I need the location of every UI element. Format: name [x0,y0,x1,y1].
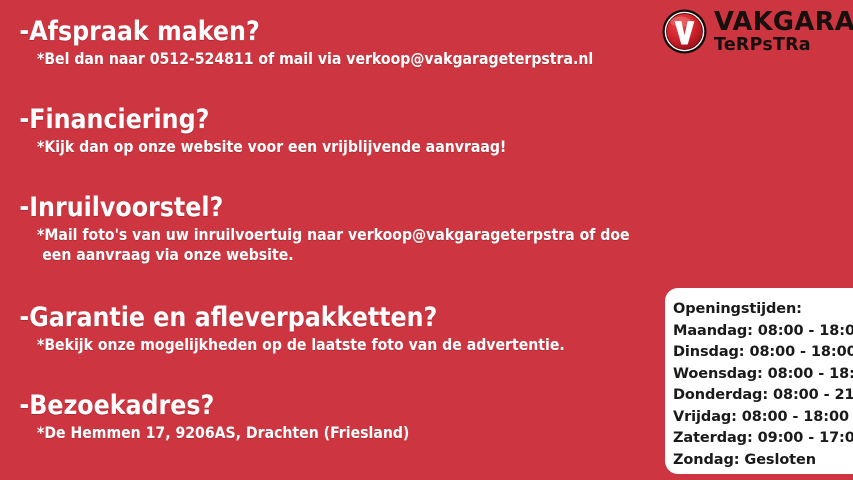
faq-heading: -Inruilvoorstel? [0,193,630,223]
opening-hours-row: Vrijdag: 08:00 - 18:00 [673,407,853,429]
opening-hours-card: Openingstijden: Maandag: 08:00 - 18:00 D… [665,288,853,474]
faq-heading: -Bezoekadres? [0,391,409,421]
logo-wordmark: VAKGARAGE TERPSTRA [714,8,853,55]
opening-hours-row: Donderdag: 08:00 - 21:00 [673,385,853,407]
faq-section-afspraak: -Afspraak maken? *Bel dan naar 0512-5248… [0,17,674,69]
opening-hours-row: Woensdag: 08:00 - 18:00 [673,364,853,386]
logo-brand-name: VAKGARAGE [714,9,853,35]
opening-hours-title: Openingstijden: [673,299,853,321]
faq-section-bezoekadres: -Bezoekadres? *De Hemmen 17, 9206AS, Dra… [0,391,465,443]
opening-hours-row: Maandag: 08:00 - 18:00 [673,321,853,343]
opening-hours-row: Zaterdag: 09:00 - 17:00 [673,428,853,450]
faq-detail-line: een aanvraag via onze website. [0,245,630,265]
faq-detail-line: *Mail foto's van uw inruilvoertuig naar … [0,223,630,245]
vakgarage-logo: VAKGARAGE TERPSTRA [662,8,853,55]
faq-heading: -Afspraak maken? [0,17,593,47]
faq-heading: -Garantie en afleverpakketten? [0,303,565,333]
faq-detail-line: *Bel dan naar 0512-524811 of mail via ve… [0,47,593,69]
vakgarage-v-shield-icon [662,9,707,54]
faq-section-garantie: -Garantie en afleverpakketten? *Bekijk o… [0,303,642,355]
logo-dealer-name: TERPSTRA [714,37,853,55]
faq-detail-line: *De Hemmen 17, 9206AS, Drachten (Friesla… [0,421,409,443]
opening-hours-row: Dinsdag: 08:00 - 18:00 [673,342,853,364]
faq-detail-line: *Kijk dan op onze website voor een vrijb… [0,135,506,157]
advertisement-banner: -Afspraak maken? *Bel dan naar 0512-5248… [0,0,853,480]
opening-hours-row: Zondag: Gesloten [673,450,853,472]
faq-section-financiering: -Financiering? *Kijk dan op onze website… [0,105,575,157]
faq-section-inruilvoorstel: -Inruilvoorstel? *Mail foto's van uw inr… [0,193,715,265]
faq-heading: -Financiering? [0,105,506,135]
faq-detail-line: *Bekijk onze mogelijkheden op de laatste… [0,333,565,355]
